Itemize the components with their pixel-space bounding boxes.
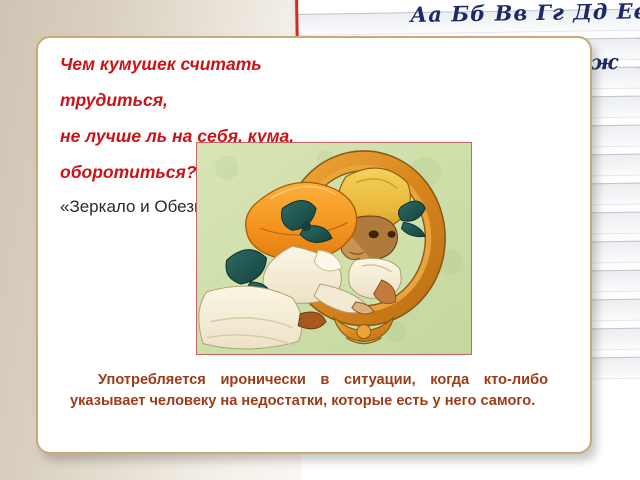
alphabet-row-1: Аа Бб Вв Гг Дд Ее [410, 0, 640, 27]
verse-line-2: трудиться, [60, 82, 580, 118]
caption-block: Употребляется иронически в ситуации, ког… [70, 370, 548, 411]
verse-line-1: Чем кумушек считать [60, 46, 580, 82]
slide-stage: Аа Бб Вв Гг Дд Ее Жж Кк Чем кумушек счит… [0, 0, 640, 480]
caption-line-2: недостатки, которые есть у него самого. [241, 393, 535, 409]
copybook-margin-line [295, 0, 299, 36]
fable-illustration [196, 142, 472, 355]
content-card: Чем кумушек считать трудиться, не лучше … [36, 36, 592, 454]
monkey-mirror-illustration-icon [197, 143, 471, 354]
